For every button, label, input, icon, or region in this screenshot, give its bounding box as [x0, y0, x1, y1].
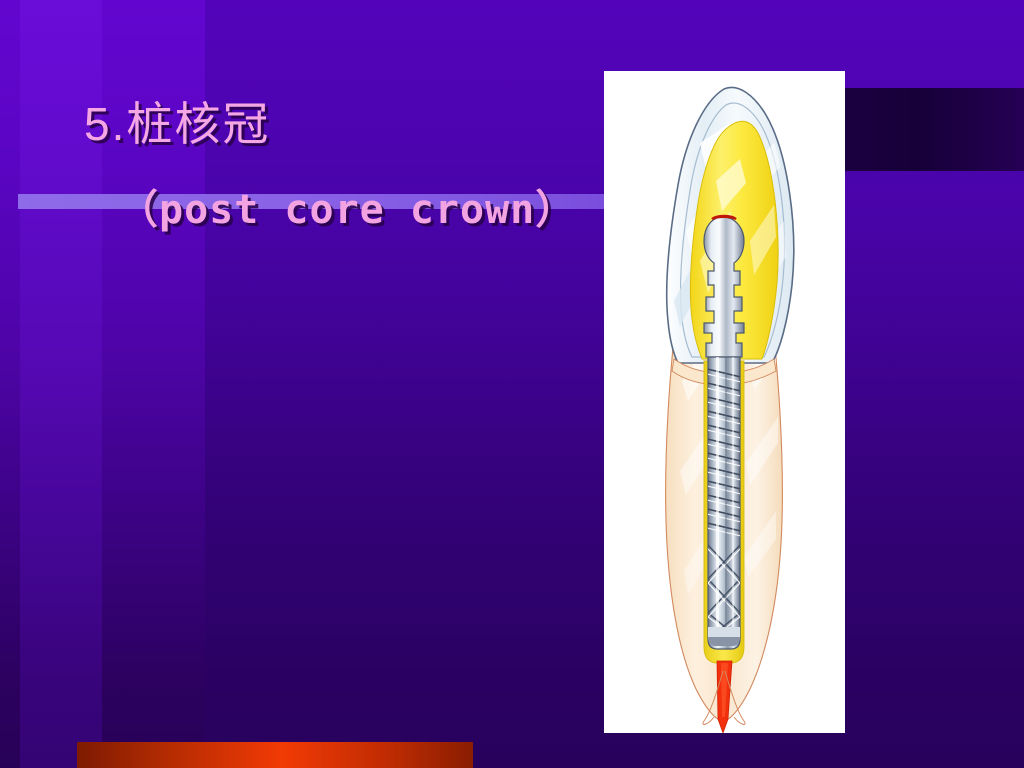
gutta-percha-root-canal — [717, 661, 732, 733]
page-subtitle: （post core crown） — [118, 177, 604, 235]
metal-post — [704, 216, 744, 650]
page-title: 5.桩核冠 — [84, 98, 604, 151]
decorative-orange-bar — [77, 742, 473, 768]
tooth-illustration-panel — [604, 71, 845, 733]
post-core-crown-illustration — [604, 71, 845, 733]
title-chinese: 桩核冠 — [126, 98, 270, 150]
slide-canvas: 5.桩核冠 （post core crown） — [0, 0, 1024, 768]
background-dark-band — [845, 88, 1024, 171]
slide-title-block: 5.桩核冠 （post core crown） — [84, 98, 604, 235]
title-number: 5. — [84, 98, 126, 150]
